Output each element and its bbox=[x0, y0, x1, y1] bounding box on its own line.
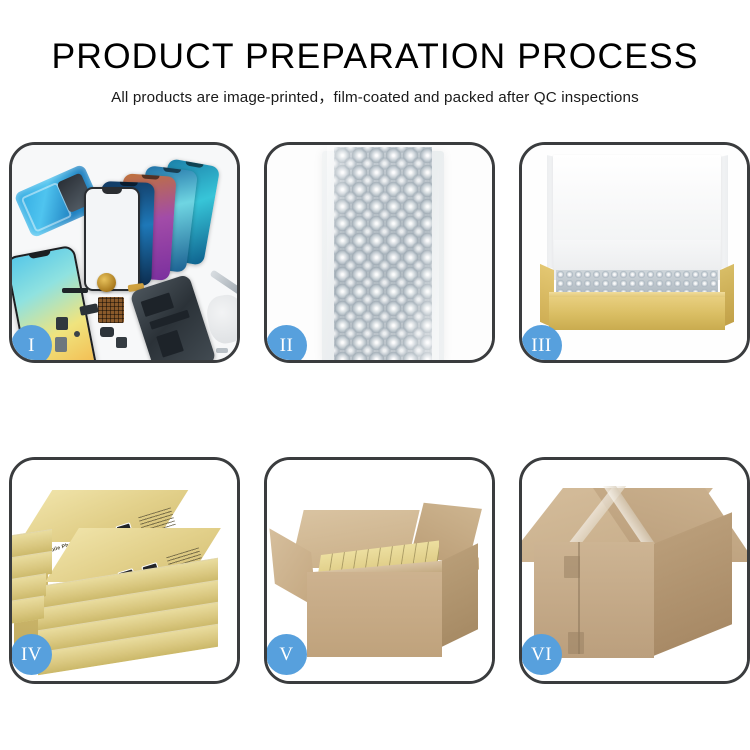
step-panel-5: V bbox=[264, 457, 495, 684]
step-panel-1: I bbox=[9, 142, 240, 363]
step-panel-3: III bbox=[519, 142, 750, 363]
carton-flap-mark-bottom-icon bbox=[568, 632, 584, 654]
process-step-grid: I II III bbox=[0, 0, 750, 750]
carton-front-wall-icon bbox=[307, 572, 442, 657]
step-5-illustration bbox=[267, 460, 492, 681]
battery-connector-part-icon bbox=[56, 317, 68, 330]
copper-coil-part-icon bbox=[97, 273, 116, 292]
speaker-part-icon bbox=[100, 327, 114, 337]
step-panel-4: Mobile Phone Spare Parts Mobile Phone Sp… bbox=[9, 457, 240, 684]
carton-flap-mark-top-icon bbox=[564, 556, 580, 578]
step-6-illustration bbox=[522, 460, 747, 681]
box-front-wall-icon bbox=[549, 297, 725, 330]
step-panel-6: VI bbox=[519, 457, 750, 684]
step-3-illustration bbox=[522, 145, 747, 360]
sim-tray-part-icon bbox=[55, 337, 67, 352]
plastic-sheen-overlay bbox=[327, 145, 439, 360]
step-panel-2: II bbox=[264, 142, 495, 363]
step-4-illustration: Mobile Phone Spare Parts Mobile Phone Sp… bbox=[12, 460, 237, 681]
step-1-illustration bbox=[12, 145, 237, 360]
vibration-motor-part-icon bbox=[116, 337, 127, 348]
flex-cable-part-icon bbox=[62, 288, 88, 293]
step-2-illustration bbox=[267, 145, 492, 360]
carton-right-wall-icon bbox=[442, 543, 478, 647]
carton-front-wall-icon bbox=[534, 542, 654, 658]
pin-grid-chip-icon bbox=[98, 297, 124, 323]
small-screw-part-icon bbox=[74, 331, 80, 337]
screw-set-part-icon bbox=[216, 348, 228, 353]
